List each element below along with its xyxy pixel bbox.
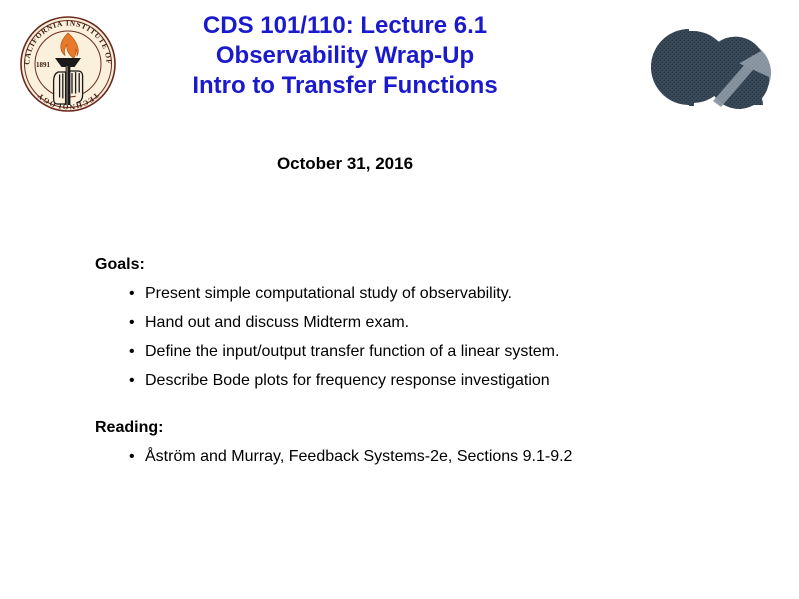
list-item: • Present simple computational study of … (95, 284, 755, 304)
list-item-label: Åström and Murray, Feedback Systems-2e, … (145, 448, 572, 465)
list-item: • Åström and Murray, Feedback Systems-2e… (95, 447, 755, 467)
list-item-label: Present simple computational study of ob… (145, 285, 512, 302)
title-line-3: Intro to Transfer Functions (145, 71, 545, 101)
reading-section: Reading: • Åström and Murray, Feedback S… (95, 418, 755, 467)
title-line-1: CDS 101/110: Lecture 6.1 (145, 11, 545, 41)
bullet-icon: • (129, 284, 135, 304)
lecture-date: October 31, 2016 (145, 153, 545, 175)
list-item-label: Define the input/output transfer functio… (145, 343, 559, 360)
bullet-icon: • (129, 313, 135, 333)
cds-logo-icon (641, 21, 771, 113)
list-item: • Describe Bode plots for frequency resp… (95, 371, 755, 391)
list-item: • Hand out and discuss Midterm exam. (95, 313, 755, 333)
reading-bullet-list: • Åström and Murray, Feedback Systems-2e… (95, 447, 755, 467)
slide-title: CDS 101/110: Lecture 6.1 Observability W… (145, 11, 545, 101)
reading-heading: Reading: (95, 418, 755, 438)
goals-bullet-list: • Present simple computational study of … (95, 284, 755, 391)
goals-heading: Goals: (95, 255, 755, 275)
list-item-label: Hand out and discuss Midterm exam. (145, 314, 409, 331)
caltech-seal-icon: CALIFORNIA INSTITUTE OF TECHNOLOGY 1891 (14, 9, 122, 119)
bullet-icon: • (129, 371, 135, 391)
goals-section: Goals: • Present simple computational st… (95, 255, 755, 391)
slide-canvas: CALIFORNIA INSTITUTE OF TECHNOLOGY 1891 (0, 0, 799, 599)
bullet-icon: • (129, 342, 135, 362)
list-item-label: Describe Bode plots for frequency respon… (145, 372, 550, 389)
bullet-icon: • (129, 447, 135, 467)
slide-body: Goals: • Present simple computational st… (95, 255, 755, 467)
svg-text:1891: 1891 (36, 61, 51, 69)
list-item: • Define the input/output transfer funct… (95, 342, 755, 362)
title-line-2: Observability Wrap-Up (145, 41, 545, 71)
